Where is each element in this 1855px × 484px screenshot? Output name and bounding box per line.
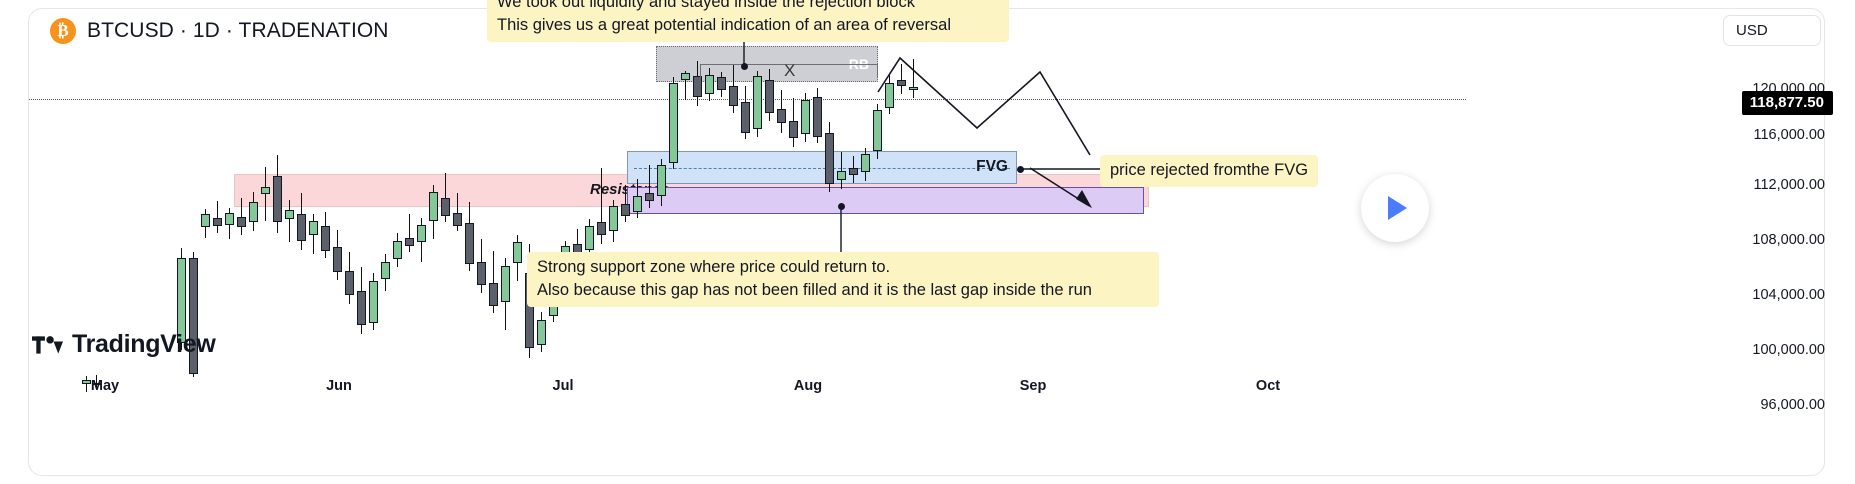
candle-body [537,320,546,345]
candle-body [849,168,858,175]
callout-bottom[interactable]: Strong support zone where price could re… [527,252,1159,307]
rb-inner-tick-left [700,64,701,78]
price-tick: 104,000.00 [1752,287,1825,303]
anchor-dot-fvg [1017,166,1024,173]
price-axis[interactable]: 120,000.00 118,877.50 116,000.00 112,000… [1705,9,1825,475]
candle-body [837,171,846,180]
candle-body [597,222,606,235]
candle-body [813,97,822,137]
candle-body [669,83,678,163]
zone-support[interactable] [627,187,1144,214]
candle-body [345,271,354,295]
candle-body [237,217,246,228]
fvg-midline [634,168,1010,169]
candle-body [681,73,690,80]
bitcoin-icon: ₿ [50,18,76,44]
price-tick: 100,000.00 [1752,342,1825,358]
candle-wick [913,59,914,99]
time-tick: May [91,378,119,394]
candle-body [453,213,462,226]
candle-body [753,76,762,129]
currency-selector[interactable]: USD [1723,15,1821,46]
candle-body [405,238,414,246]
play-button[interactable] [1361,174,1429,242]
callout-top[interactable]: We took out liquidity and stayed inside … [487,0,1009,42]
x-marker: X [784,61,795,81]
candle-body [789,121,798,138]
candle-body [777,109,786,123]
candle-body [693,76,702,97]
candle-body [489,283,498,307]
time-tick: Sep [1020,378,1047,394]
candle-body [861,154,870,172]
candle-wick [217,201,218,233]
candle-body [825,133,834,184]
candle-body [201,214,210,227]
candle-body [897,80,906,87]
time-tick: Jun [326,378,352,394]
time-tick: Jul [553,378,574,394]
candle-body [621,204,630,216]
tradingview-logo-icon [32,332,63,358]
candle-body [477,262,486,286]
candle-body [705,75,714,95]
candle-body [741,102,750,132]
candle-body [729,86,738,106]
candle-body [645,193,654,201]
candle-body [309,221,318,235]
candle-body [321,226,330,251]
time-tick: Aug [794,378,822,394]
candle-body [501,266,510,303]
candle-body [417,225,426,242]
candle-body [333,247,342,272]
candle-body [213,218,222,226]
currency-label: USD [1736,22,1768,39]
candle-body [633,196,642,212]
tradingview-chart-widget: ₿ BTCUSD · 1D · TRADENATION USD Resistan… [0,0,1855,484]
tradingview-watermark: TradingView [32,330,216,359]
candle-body [465,223,474,264]
last-price-badge: 118,877.50 [1742,91,1833,115]
anchor-dot-support [838,203,845,210]
candle-body [441,198,450,215]
candle-wick [409,214,410,252]
candle-body [369,281,378,323]
last-price-line [29,99,1466,100]
price-tick: 108,000.00 [1752,232,1825,248]
symbol-header[interactable]: ₿ BTCUSD · 1D · TRADENATION [50,18,389,44]
candle-body [909,87,918,91]
watermark-text: TradingView [72,330,216,359]
page-title: BTCUSD · 1D · TRADENATION [87,19,389,43]
play-icon [1388,196,1407,220]
candle-body [801,100,810,134]
candle-body [609,206,618,231]
candle-body [249,202,258,222]
candle-body [429,192,438,221]
candle-body [297,214,306,240]
candle-body [381,262,390,279]
callout-right[interactable]: price rejected fromthe FVG [1100,155,1318,187]
candle-body [261,187,270,195]
candle-body [357,291,366,325]
candle-body [513,242,522,263]
candle-body [585,226,594,250]
time-tick: Oct [1256,378,1280,394]
candle-body [225,213,234,225]
zone-fvg[interactable]: FVG [627,151,1017,184]
anchor-dot-rb [741,63,748,70]
candle-body [285,210,294,219]
time-axis[interactable]: May Jun Jul Aug Sep Oct [29,378,1466,406]
candle-body [885,83,894,108]
candle-wick [649,165,650,207]
candle-body [873,110,882,151]
candle-body [765,80,774,113]
candle-wick [289,200,290,242]
price-tick: 96,000.00 [1760,397,1825,413]
candle-body [717,77,726,90]
zone-fvg-label: FVG [976,158,1008,176]
rb-inner-tick-right [877,64,878,78]
candle-body [273,176,282,222]
price-tick: 116,000.00 [1754,127,1826,143]
candle-body [393,241,402,259]
candle-body [657,165,666,195]
price-tick: 112,000.00 [1754,177,1826,193]
